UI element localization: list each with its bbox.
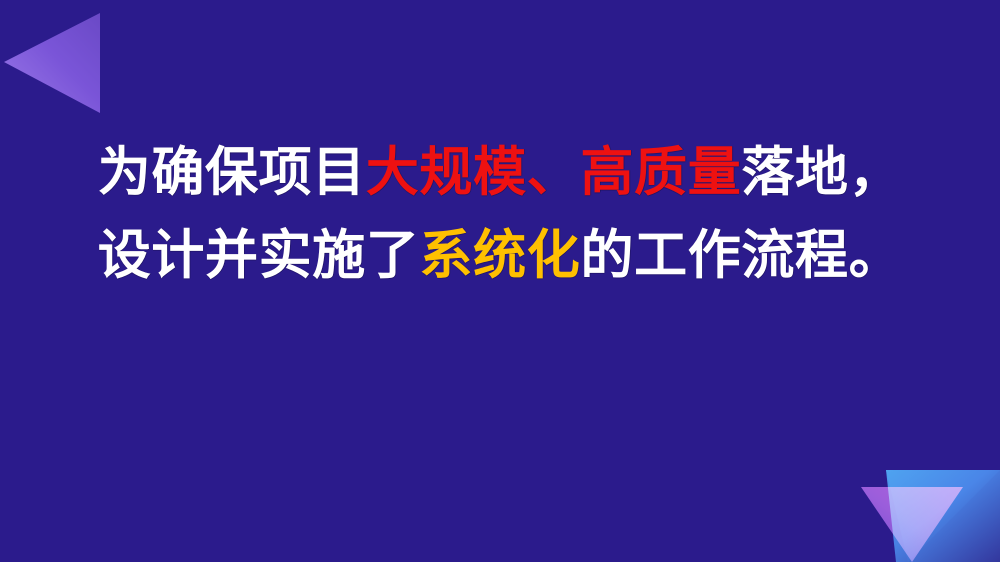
line1-run-3: 高质量	[580, 141, 741, 203]
line1-run-4: 落地，	[741, 141, 902, 203]
bottom-right-blue-wedge	[886, 470, 1000, 562]
line2-run-2: 系统化	[420, 224, 581, 286]
text-line-1: 为确保项目大规模、高质量落地，	[0, 146, 1000, 199]
line1-run-1: 为确保项目	[98, 141, 366, 203]
top-left-purple-triangle	[4, 13, 100, 113]
bottom-right-magenta-triangle	[861, 487, 963, 562]
line2-run-3: 的工作流程。	[580, 224, 902, 286]
bottom-right-blue-triangle	[886, 470, 1000, 562]
text-line-2: 设计并实施了系统化的工作流程。	[0, 229, 1000, 282]
line1-run-2: 大规模、	[366, 141, 581, 203]
slide-body-text: 为确保项目大规模、高质量落地， 设计并实施了系统化的工作流程。	[0, 146, 1000, 282]
slide-canvas: 为确保项目大规模、高质量落地， 设计并实施了系统化的工作流程。	[0, 0, 1000, 562]
line2-run-1: 设计并实施了	[98, 224, 420, 286]
